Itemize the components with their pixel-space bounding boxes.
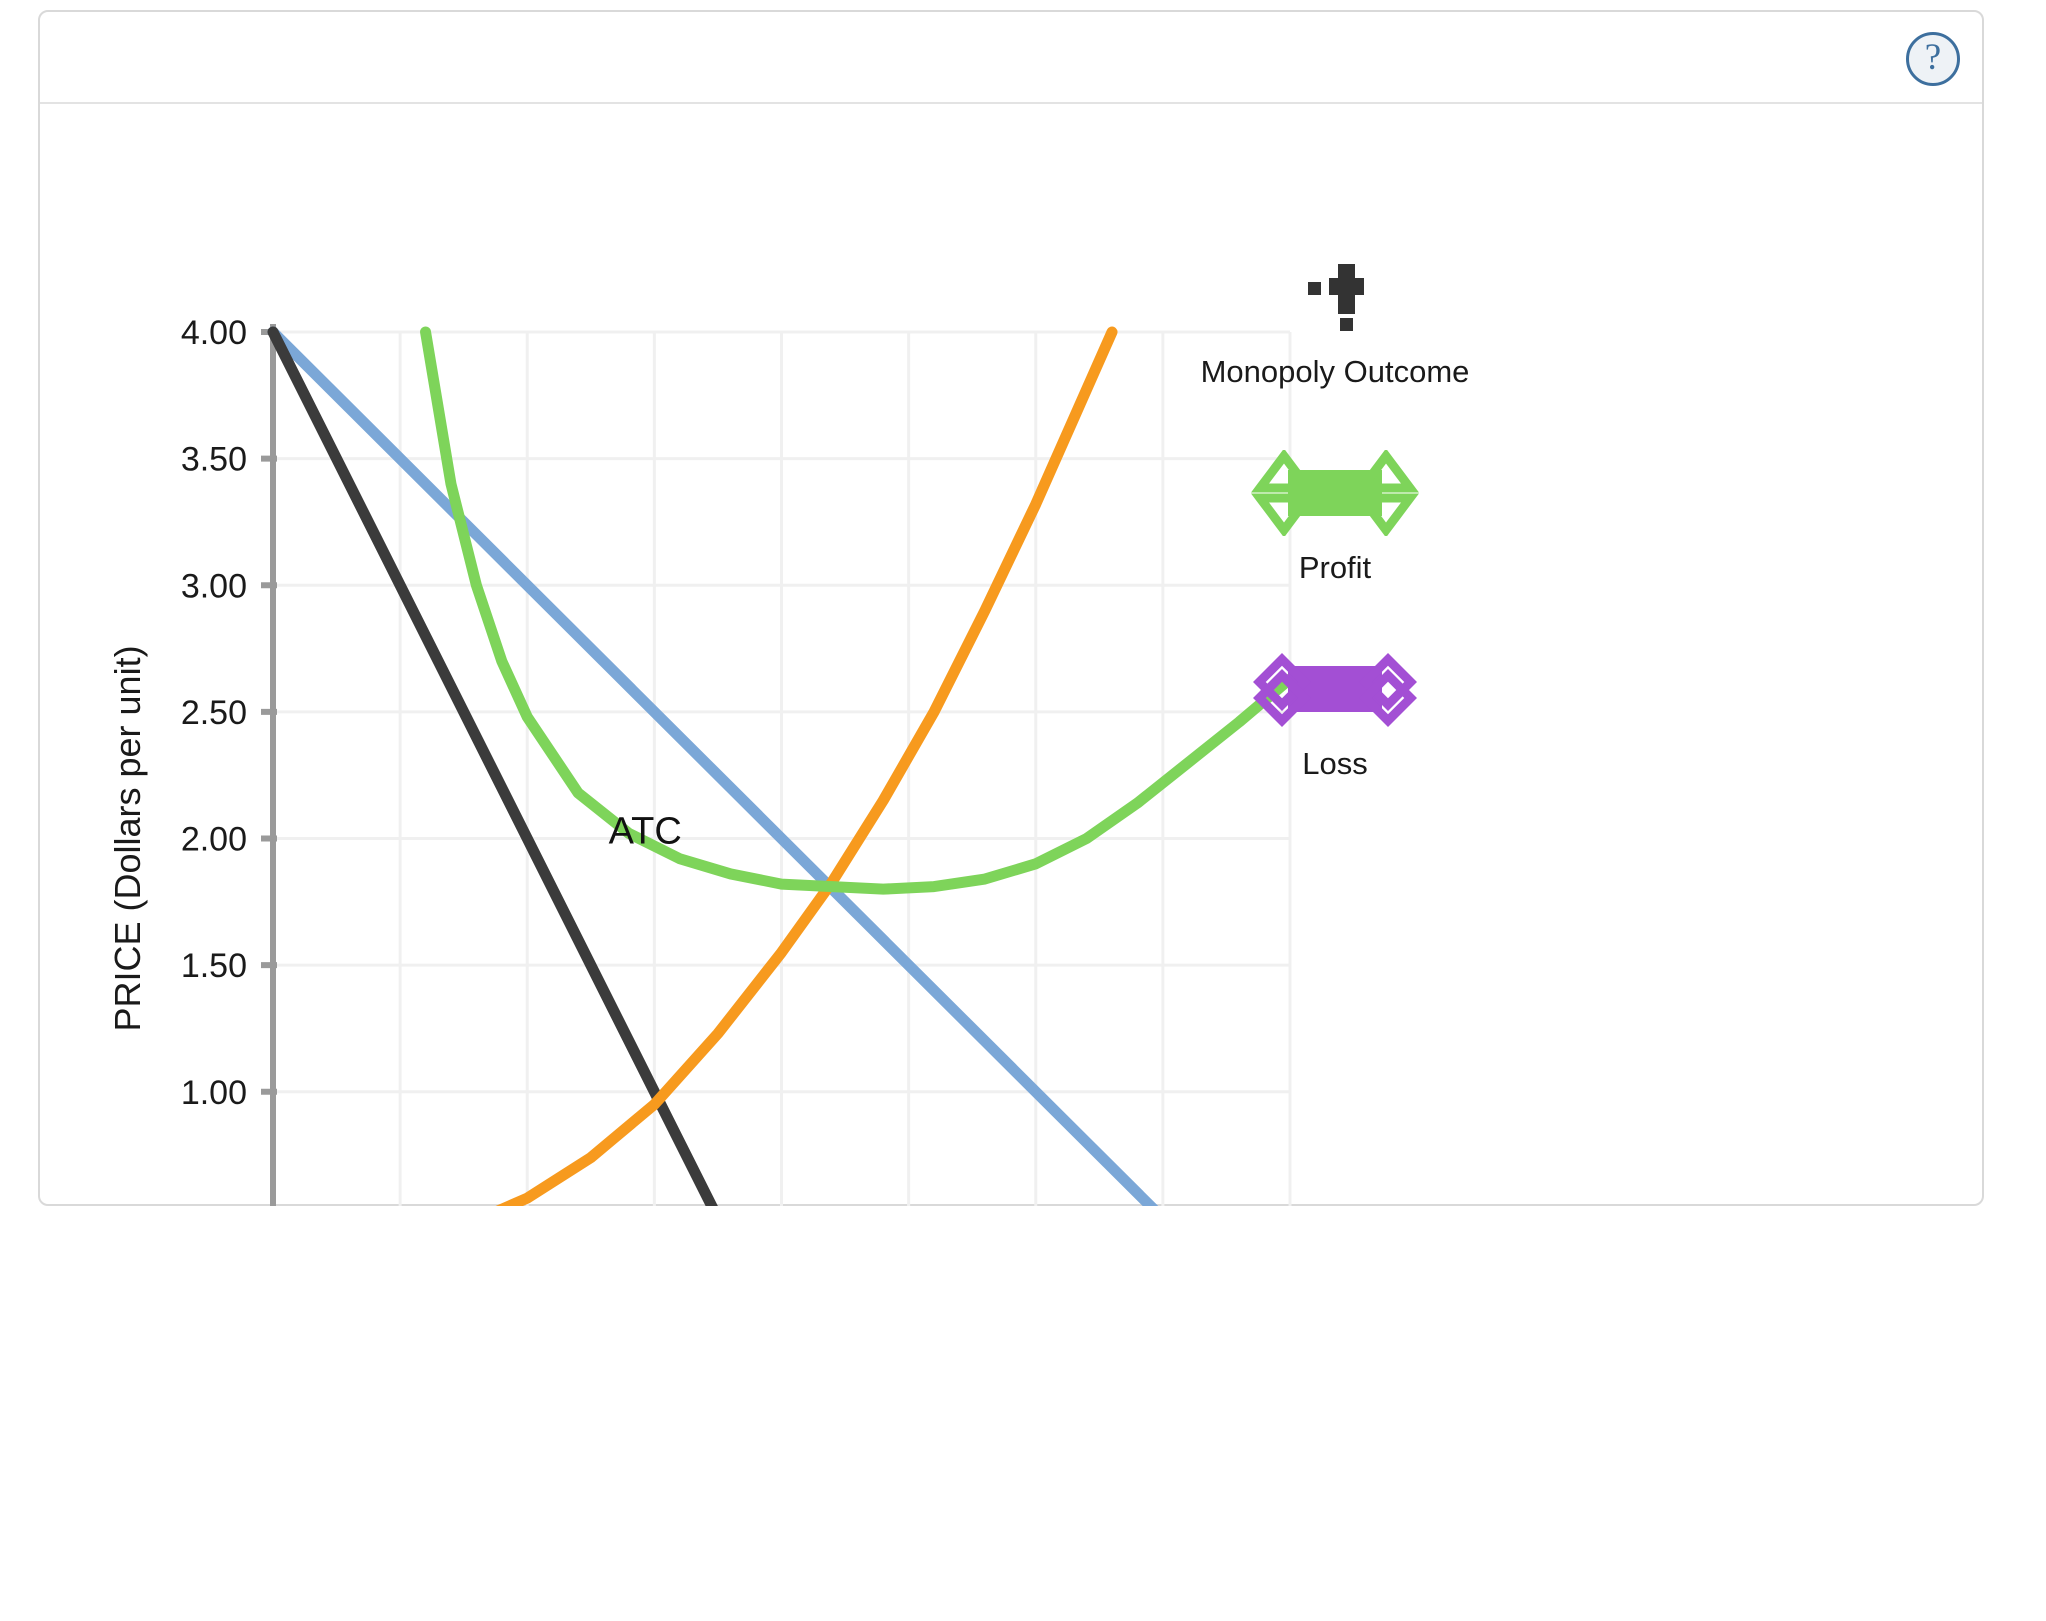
- monopoly-outcome-marker-icon: [1100, 254, 1570, 340]
- legend-label: Loss: [1100, 746, 1570, 782]
- series-line-mc: [400, 332, 1112, 1206]
- legend-item-monopoly-outcome[interactable]: Monopoly Outcome: [1100, 254, 1570, 390]
- legend-label: Profit: [1100, 550, 1570, 586]
- y-tick-label: 0.50: [181, 1200, 247, 1206]
- question-mark-icon[interactable]: ?: [1906, 32, 1960, 86]
- screenshot-root: ? 00.501.001.502.002.503.003.504.0000.51…: [0, 0, 2046, 1621]
- legend-label: Monopoly Outcome: [1100, 354, 1570, 390]
- help-icon-glyph: ?: [1925, 39, 1941, 76]
- profit-marker-icon: [1100, 450, 1570, 536]
- y-tick-label: 3.00: [181, 567, 247, 605]
- economics-plot: 00.501.001.502.002.503.003.504.0000.51.0…: [40, 104, 1986, 1206]
- y-tick-label: 2.50: [181, 694, 247, 732]
- legend-item-loss[interactable]: Loss: [1100, 646, 1570, 782]
- y-axis-title: PRICE (Dollars per unit): [107, 645, 148, 1031]
- y-tick-label: 2.00: [181, 821, 247, 859]
- y-tick-label: 1.00: [181, 1074, 247, 1112]
- card-header: ?: [40, 12, 1982, 104]
- loss-marker-icon: [1100, 646, 1570, 732]
- y-tick-label: 1.50: [181, 947, 247, 985]
- y-tick-label: 4.00: [181, 314, 247, 352]
- chart-area: 00.501.001.502.002.503.003.504.0000.51.0…: [40, 104, 1986, 1206]
- y-tick-label: 3.50: [181, 441, 247, 479]
- chart-legend: Monopoly Outcome Profit: [1100, 254, 1570, 842]
- chart-card: ? 00.501.001.502.002.503.003.504.0000.51…: [38, 10, 1984, 1206]
- curve-label-atc: ATC: [609, 811, 682, 853]
- legend-item-profit[interactable]: Profit: [1100, 450, 1570, 586]
